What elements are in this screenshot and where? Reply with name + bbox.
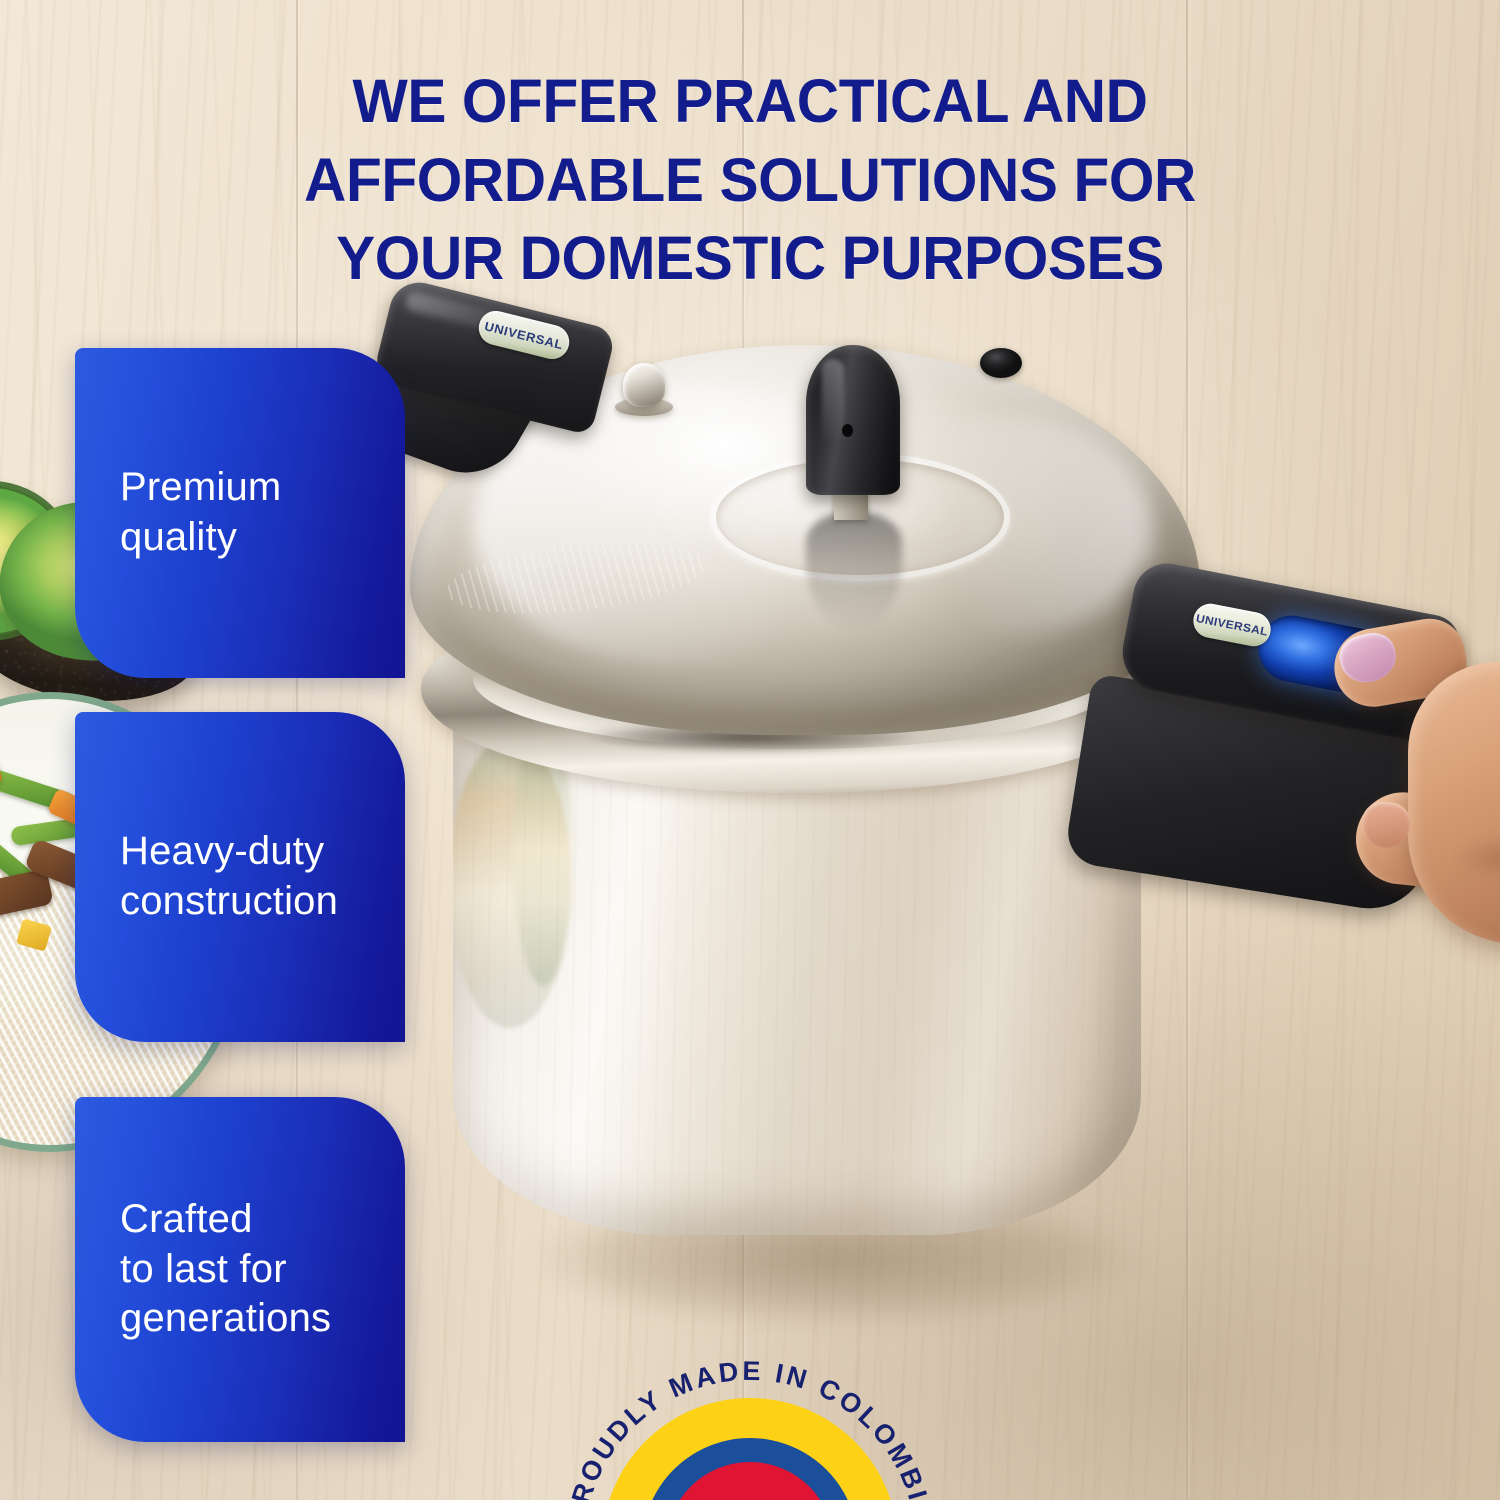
pressure-regulator-weight [806, 345, 900, 495]
headline-line-1: WE OFFER PRACTICAL AND [193, 62, 1307, 141]
safety-valve-icon [623, 363, 665, 407]
pot-reflection-food [453, 736, 571, 1028]
headline-line-2: AFFORDABLE SOLUTIONS FOR [193, 141, 1307, 220]
headline-line-3: YOUR DOMESTIC PURPOSES [193, 219, 1307, 298]
bottom-edge [0, 1496, 1500, 1500]
lid-rivet-icon [980, 348, 1022, 378]
brand-badge-handle-label: UNIVERSAL [1195, 612, 1269, 639]
regulator-vent-hole-icon [842, 424, 853, 437]
made-in-colombia-badge: PROUDLY MADE IN COLOMBIA [560, 1356, 940, 1500]
page-title: WE OFFER PRACTICAL AND AFFORDABLE SOLUTI… [193, 62, 1307, 298]
product-banner: WE OFFER PRACTICAL AND AFFORDABLE SOLUTI… [0, 0, 1500, 1500]
feature-card-crafted-to-last[interactable]: Crafted to last for generations [75, 1097, 405, 1442]
palm [1408, 662, 1500, 944]
feature-card-heavy-duty-construction[interactable]: Heavy-duty construction [75, 712, 405, 1042]
feature-card-premium-quality[interactable]: Premium quality [75, 348, 405, 678]
feature-card-label: Heavy-duty construction [75, 827, 368, 926]
feature-card-label: Premium quality [75, 463, 311, 562]
hand-gripping-handle [1290, 618, 1500, 948]
feature-card-label: Crafted to last for generations [75, 1195, 361, 1344]
